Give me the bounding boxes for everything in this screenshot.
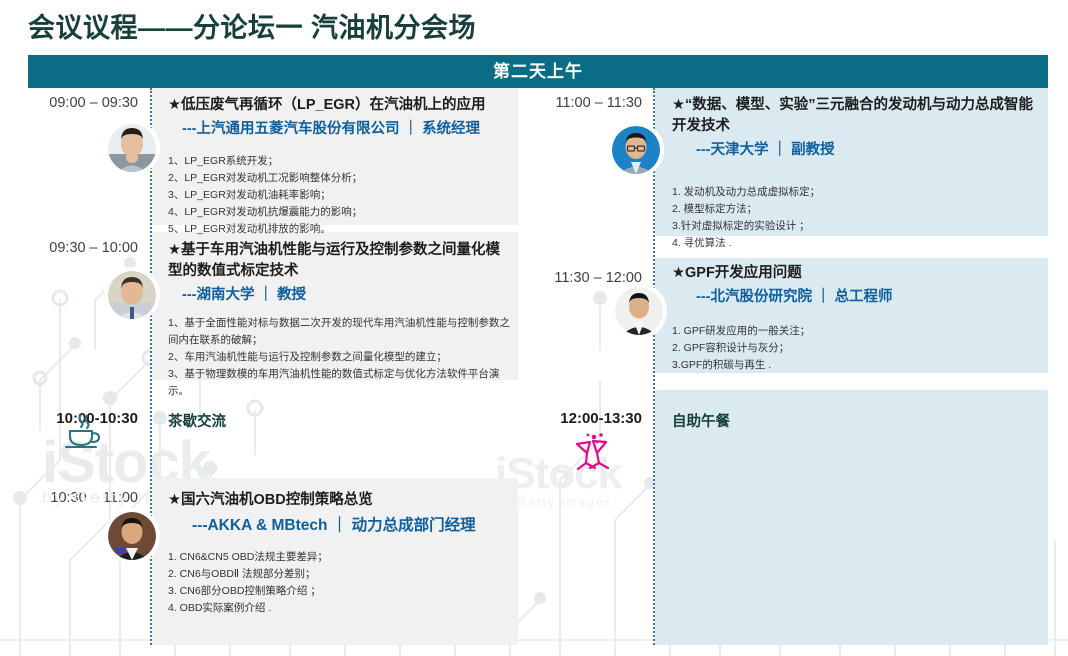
- org-separator-left-1: ｜: [404, 121, 423, 137]
- avatar-right-2: [615, 287, 663, 335]
- session-title-left-1: ★低压废气再循环（LP_EGR）在汽油机上的应用: [168, 95, 508, 116]
- avatar-right-1: [612, 126, 660, 174]
- session-time-left-4: 10:30 – 11:00: [30, 490, 138, 506]
- break-label-left: 茶歇交流: [168, 410, 226, 431]
- day-banner-label: 第二天上午: [28, 55, 1048, 88]
- session-time-right-1: 11:00 – 11:30: [530, 95, 642, 111]
- session-title-right-2: ★GPF开发应用问题: [672, 263, 1042, 284]
- champagne-glasses-icon: [570, 432, 614, 474]
- bullet: 2. CN6与OBDⅡ 法规部分差别；: [168, 566, 513, 583]
- session-time-left-2: 09:30 – 10:00: [30, 240, 138, 256]
- session-title-left-4: ★国六汽油机OBD控制策略总览: [168, 490, 513, 511]
- org-name-left-4: ---AKKA & MBtech: [192, 517, 327, 534]
- session-bullets-right-1: 1. 发动机及动力总成虚拟标定； 2. 模型标定方法； 3.针对虚拟标定的实验设…: [672, 184, 1042, 252]
- bullet: 3.GPF的积碳与再生 .: [672, 357, 1042, 374]
- avatar-left-2: [108, 271, 156, 319]
- session-org-left-1: ---上汽通用五菱汽车股份有限公司 ｜ 系统经理: [168, 119, 508, 141]
- session-block-left-4: ★国六汽油机OBD控制策略总览 ---AKKA & MBtech ｜ 动力总成部…: [168, 490, 513, 617]
- bullet: 3. CN6部分OBD控制策略介绍 ；: [168, 583, 513, 600]
- org-name-right-2: ---北汽股份研究院: [696, 289, 812, 305]
- org-name-right-1: ---天津大学: [696, 142, 769, 158]
- bullet: 2. GPF容积设计与灰分；: [672, 340, 1042, 357]
- bullet: 2. 模型标定方法；: [672, 201, 1042, 218]
- bullet: 4、LP_EGR对发动机抗爆震能力的影响；: [168, 204, 508, 221]
- session-time-left-1: 09:00 – 09:30: [30, 95, 138, 111]
- session-block-right-2: ★GPF开发应用问题 ---北汽股份研究院 ｜ 总工程师 1. GPF研发应用的…: [672, 263, 1042, 374]
- bullet: 3.针对虚拟标定的实验设计 ；: [672, 218, 1042, 235]
- org-separator-right-1: ｜: [773, 142, 792, 158]
- speaker-photo-icon: [108, 271, 156, 319]
- bullet: 2、车用汽油机性能与运行及控制参数之间量化模型的建立；: [168, 349, 513, 366]
- org-role-left-2: 教授: [277, 287, 306, 303]
- avatar-left-1: [108, 124, 156, 172]
- speaker-photo-icon: [615, 287, 663, 335]
- session-bullets-left-4: 1. CN6&CN5 OBD法规主要差异； 2. CN6与OBDⅡ 法规部分差别…: [168, 549, 513, 617]
- bullet: 1. 发动机及动力总成虚拟标定；: [672, 184, 1042, 201]
- session-title-left-2: ★基于车用汽油机性能与运行及控制参数之间量化模型的数值式标定技术: [168, 240, 513, 282]
- session-bullets-left-1: 1、LP_EGR系统开发； 2、LP_EGR对发动机工况影响整体分析； 3、LP…: [168, 153, 508, 238]
- break-label-right: 自助午餐: [672, 410, 730, 431]
- session-block-left-2: ★基于车用汽油机性能与运行及控制参数之间量化模型的数值式标定技术 ---湖南大学…: [168, 240, 513, 400]
- bullet: 3、基于物理数模的车用汽油机性能的数值式标定与优化方法软件平台演示。: [168, 366, 513, 400]
- bullet: 4. 寻优算法 .: [672, 235, 1042, 252]
- page-title: 会议议程——分论坛一 汽油机分会场: [28, 6, 476, 45]
- bullet: 4. OBD实际案例介绍 .: [168, 600, 513, 617]
- speaker-photo-icon: [612, 126, 660, 174]
- coffee-cup-icon: [62, 412, 106, 450]
- bullet: 1、基于全面性能对标与数据二次开发的现代车用汽油机性能与控制参数之间内在联系的破…: [168, 315, 513, 349]
- org-name-left-1: ---上汽通用五菱汽车股份有限公司: [182, 121, 400, 137]
- session-block-left-1: ★低压废气再循环（LP_EGR）在汽油机上的应用 ---上汽通用五菱汽车股份有限…: [168, 95, 508, 238]
- org-role-right-2: 总工程师: [835, 289, 893, 305]
- speaker-photo-icon: [108, 512, 156, 560]
- right-column-divider: [653, 88, 655, 645]
- session-bullets-left-2: 1、基于全面性能对标与数据二次开发的现代车用汽油机性能与控制参数之间内在联系的破…: [168, 315, 513, 400]
- session-title-right-1: ★“数据、模型、实验”三元融合的发动机与动力总成智能开发技术: [672, 95, 1042, 137]
- org-separator-left-4: ｜: [332, 517, 352, 534]
- org-role-right-1: 副教授: [791, 142, 835, 158]
- org-separator-right-2: ｜: [816, 289, 835, 305]
- bullet: 5、LP_EGR对发动机排放的影响。: [168, 221, 508, 238]
- session-bullets-right-2: 1. GPF研发应用的一般关注； 2. GPF容积设计与灰分； 3.GPF的积碳…: [672, 323, 1042, 374]
- bullet: 3、LP_EGR对发动机油耗率影响；: [168, 187, 508, 204]
- org-separator-left-2: ｜: [259, 287, 278, 303]
- speaker-photo-icon: [108, 124, 156, 172]
- org-role-left-4: 动力总成部门经理: [352, 517, 476, 534]
- avatar-left-4: [108, 512, 156, 560]
- left-column-divider: [150, 88, 152, 645]
- org-role-left-1: 系统经理: [422, 121, 480, 137]
- org-name-left-2: ---湖南大学: [182, 287, 255, 303]
- session-time-right-3: 12:00-13:30: [530, 410, 642, 427]
- bullet: 1、LP_EGR系统开发；: [168, 153, 508, 170]
- bullet: 1. CN6&CN5 OBD法规主要差异；: [168, 549, 513, 566]
- session-org-left-2: ---湖南大学 ｜ 教授: [168, 285, 513, 307]
- session-org-left-4: ---AKKA & MBtech ｜ 动力总成部门经理: [168, 514, 513, 537]
- bullet: 1. GPF研发应用的一般关注；: [672, 323, 1042, 340]
- session-org-right-1: ---天津大学 ｜ 副教授: [672, 140, 1042, 162]
- session-block-right-1: ★“数据、模型、实验”三元融合的发动机与动力总成智能开发技术 ---天津大学 ｜…: [672, 95, 1042, 252]
- session-time-right-2: 11:30 – 12:00: [530, 270, 642, 286]
- bullet: 2、LP_EGR对发动机工况影响整体分析；: [168, 170, 508, 187]
- session-org-right-2: ---北汽股份研究院 ｜ 总工程师: [672, 287, 1042, 309]
- day-banner: 第二天上午: [28, 55, 1048, 88]
